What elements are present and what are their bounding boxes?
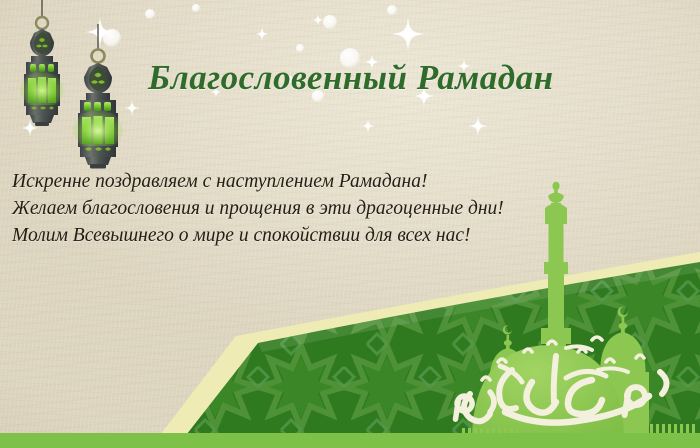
- page-title: Благословенный Рамадан: [148, 58, 618, 98]
- greeting-line-1: Искренне поздравляем с наступлением Рама…: [12, 168, 542, 195]
- greeting-text-block: Искренне поздравляем с наступлением Рама…: [12, 168, 542, 249]
- greeting-line-3: Молим Всевышнего о мире и спокойствии дл…: [12, 222, 542, 249]
- lantern-right-icon: [58, 24, 138, 172]
- greeting-line-2: Желаем благословения и прощения в эти др…: [12, 195, 542, 222]
- ramadan-greeting-card: Благословенный Рамадан Искренне поздравл…: [0, 0, 700, 448]
